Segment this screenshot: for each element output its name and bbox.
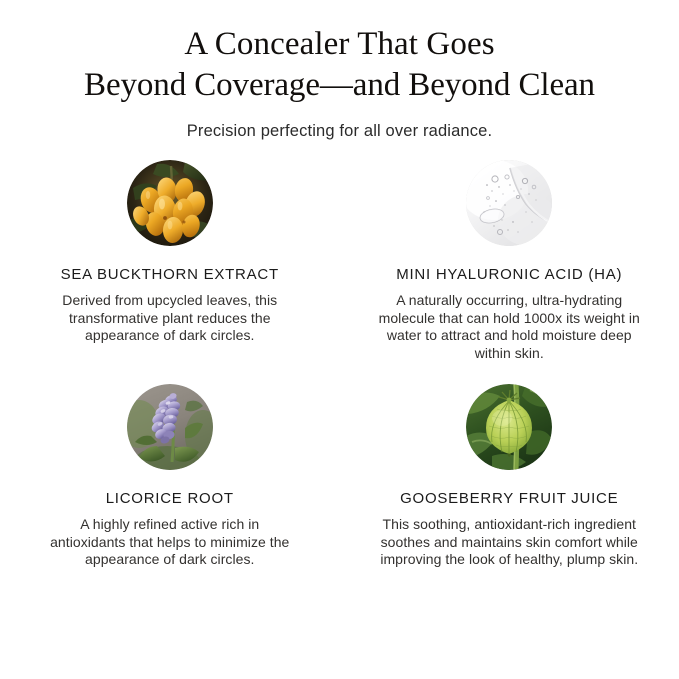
- licorice-root-flower-photo: [127, 384, 213, 470]
- ingredient-title: GOOSEBERRY FRUIT JUICE: [400, 490, 618, 508]
- ingredient-title: MINI HYALURONIC ACID (HA): [396, 266, 622, 284]
- header: A Concealer That Goes Beyond Coverage—an…: [0, 0, 679, 142]
- ingredient-description: Derived from upcycled leaves, this trans…: [44, 292, 296, 345]
- gooseberry-fruit-photo: [466, 384, 552, 470]
- ingredient-title: SEA BUCKTHORN EXTRACT: [61, 266, 279, 284]
- ingredient-description: This soothing, antioxidant-rich ingredie…: [376, 516, 642, 569]
- ingredient-card-licorice-root: LICORICE ROOT A highly refined active ri…: [0, 384, 340, 569]
- hyaluronic-acid-gel-texture-photo: [466, 160, 552, 246]
- ingredient-card-sea-buckthorn: SEA BUCKTHORN EXTRACT Derived from upcyc…: [0, 160, 340, 362]
- page-title-line-2: Beyond Coverage—and Beyond Clean: [26, 65, 653, 106]
- page-subtitle: Precision perfecting for all over radian…: [0, 120, 679, 142]
- ingredient-title: LICORICE ROOT: [106, 490, 234, 508]
- sea-buckthorn-berries-photo: [127, 160, 213, 246]
- ingredient-description: A naturally occurring, ultra-hydrating m…: [376, 292, 642, 362]
- page-title-line-1: A Concealer That Goes: [26, 24, 653, 65]
- page-title: A Concealer That Goes Beyond Coverage—an…: [0, 24, 679, 106]
- ingredient-benefits-panel: A Concealer That Goes Beyond Coverage—an…: [0, 0, 679, 679]
- ingredient-card-hyaluronic-acid: MINI HYALURONIC ACID (HA) A naturally oc…: [340, 160, 679, 362]
- ingredient-description: A highly refined active rich in antioxid…: [44, 516, 296, 569]
- ingredient-grid: SEA BUCKTHORN EXTRACT Derived from upcyc…: [0, 160, 679, 569]
- ingredient-card-gooseberry: GOOSEBERRY FRUIT JUICE This soothing, an…: [340, 384, 679, 569]
